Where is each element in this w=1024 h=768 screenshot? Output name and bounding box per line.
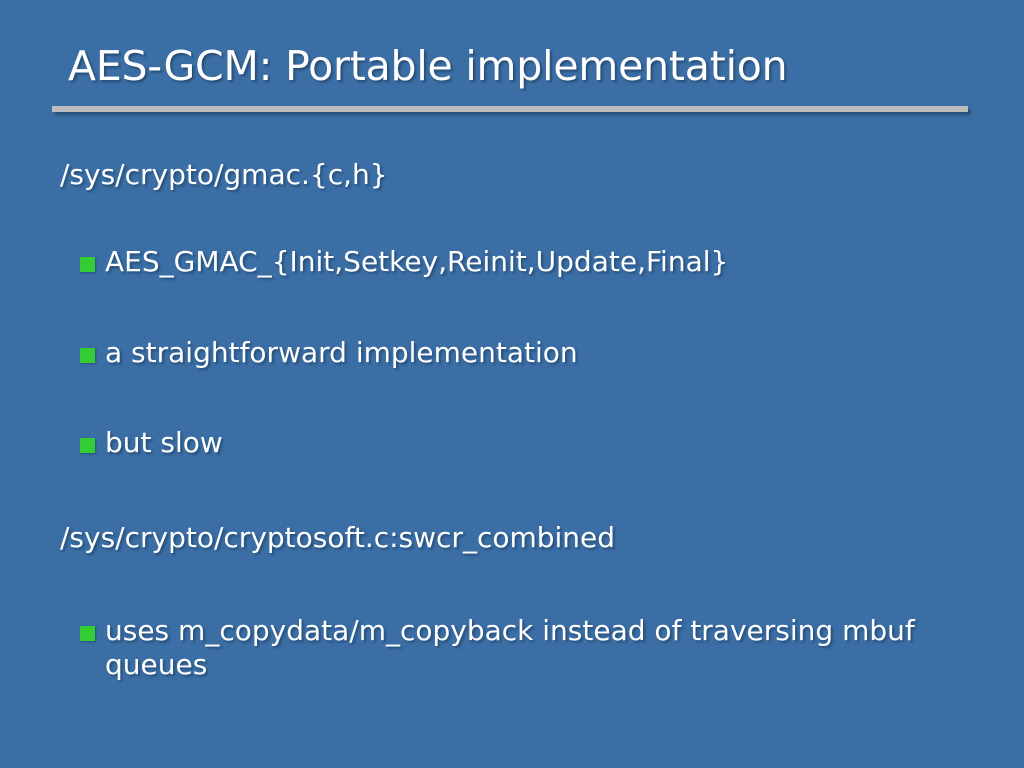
square-bullet-icon	[80, 348, 95, 363]
slide-title-block: AES-GCM: Portable implementation	[0, 0, 1024, 125]
content-heading-gmac: /sys/crypto/gmac.{c,h}	[60, 158, 960, 192]
list-item: a straightforward implementation	[80, 336, 940, 370]
square-bullet-icon	[80, 257, 95, 272]
presentation-slide: AES-GCM: Portable implementation /sys/cr…	[0, 0, 1024, 768]
list-item: but slow	[80, 426, 940, 460]
square-bullet-icon	[80, 438, 95, 453]
list-item: AES_GMAC_{Init,Setkey,Reinit,Update,Fina…	[80, 245, 940, 279]
content-heading-cryptosoft: /sys/crypto/cryptosoft.c:swcr_combined	[60, 521, 960, 555]
list-item-label: uses m_copydata/m_copyback instead of tr…	[105, 614, 925, 682]
slide-body: /sys/crypto/gmac.{c,h} AES_GMAC_{Init,Se…	[0, 132, 1024, 768]
list-item-label: but slow	[105, 426, 940, 460]
list-item-label: AES_GMAC_{Init,Setkey,Reinit,Update,Fina…	[105, 245, 940, 279]
title-divider	[52, 106, 968, 112]
list-item: uses m_copydata/m_copyback instead of tr…	[80, 614, 925, 682]
page-title: AES-GCM: Portable implementation	[68, 44, 978, 88]
square-bullet-icon	[80, 626, 95, 641]
list-item-label: a straightforward implementation	[105, 336, 940, 370]
